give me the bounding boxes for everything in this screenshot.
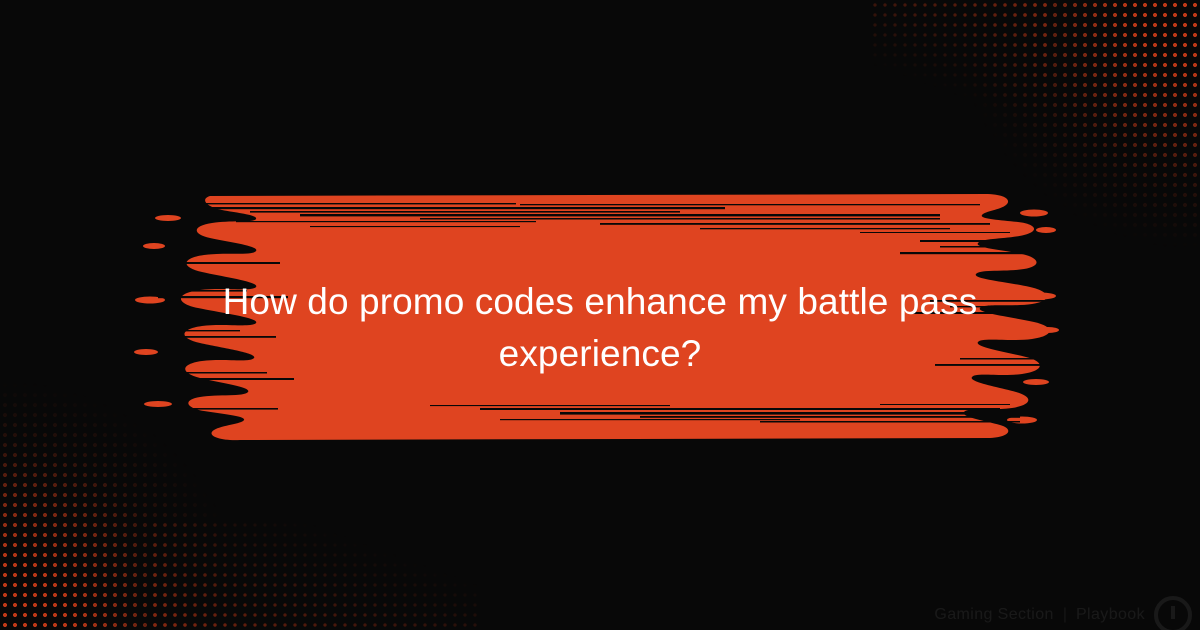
page-title: How do promo codes enhance my battle pas… [200, 276, 1000, 380]
watermark-separator: | [1063, 606, 1067, 624]
watermark-subtext: Playbook [1076, 606, 1145, 624]
watermark: Gaming Section | Playbook [934, 596, 1192, 630]
watermark-text: Gaming Section [934, 606, 1053, 624]
circle-logo-icon [1154, 596, 1192, 630]
image-canvas: How do promo codes enhance my battle pas… [0, 0, 1200, 630]
